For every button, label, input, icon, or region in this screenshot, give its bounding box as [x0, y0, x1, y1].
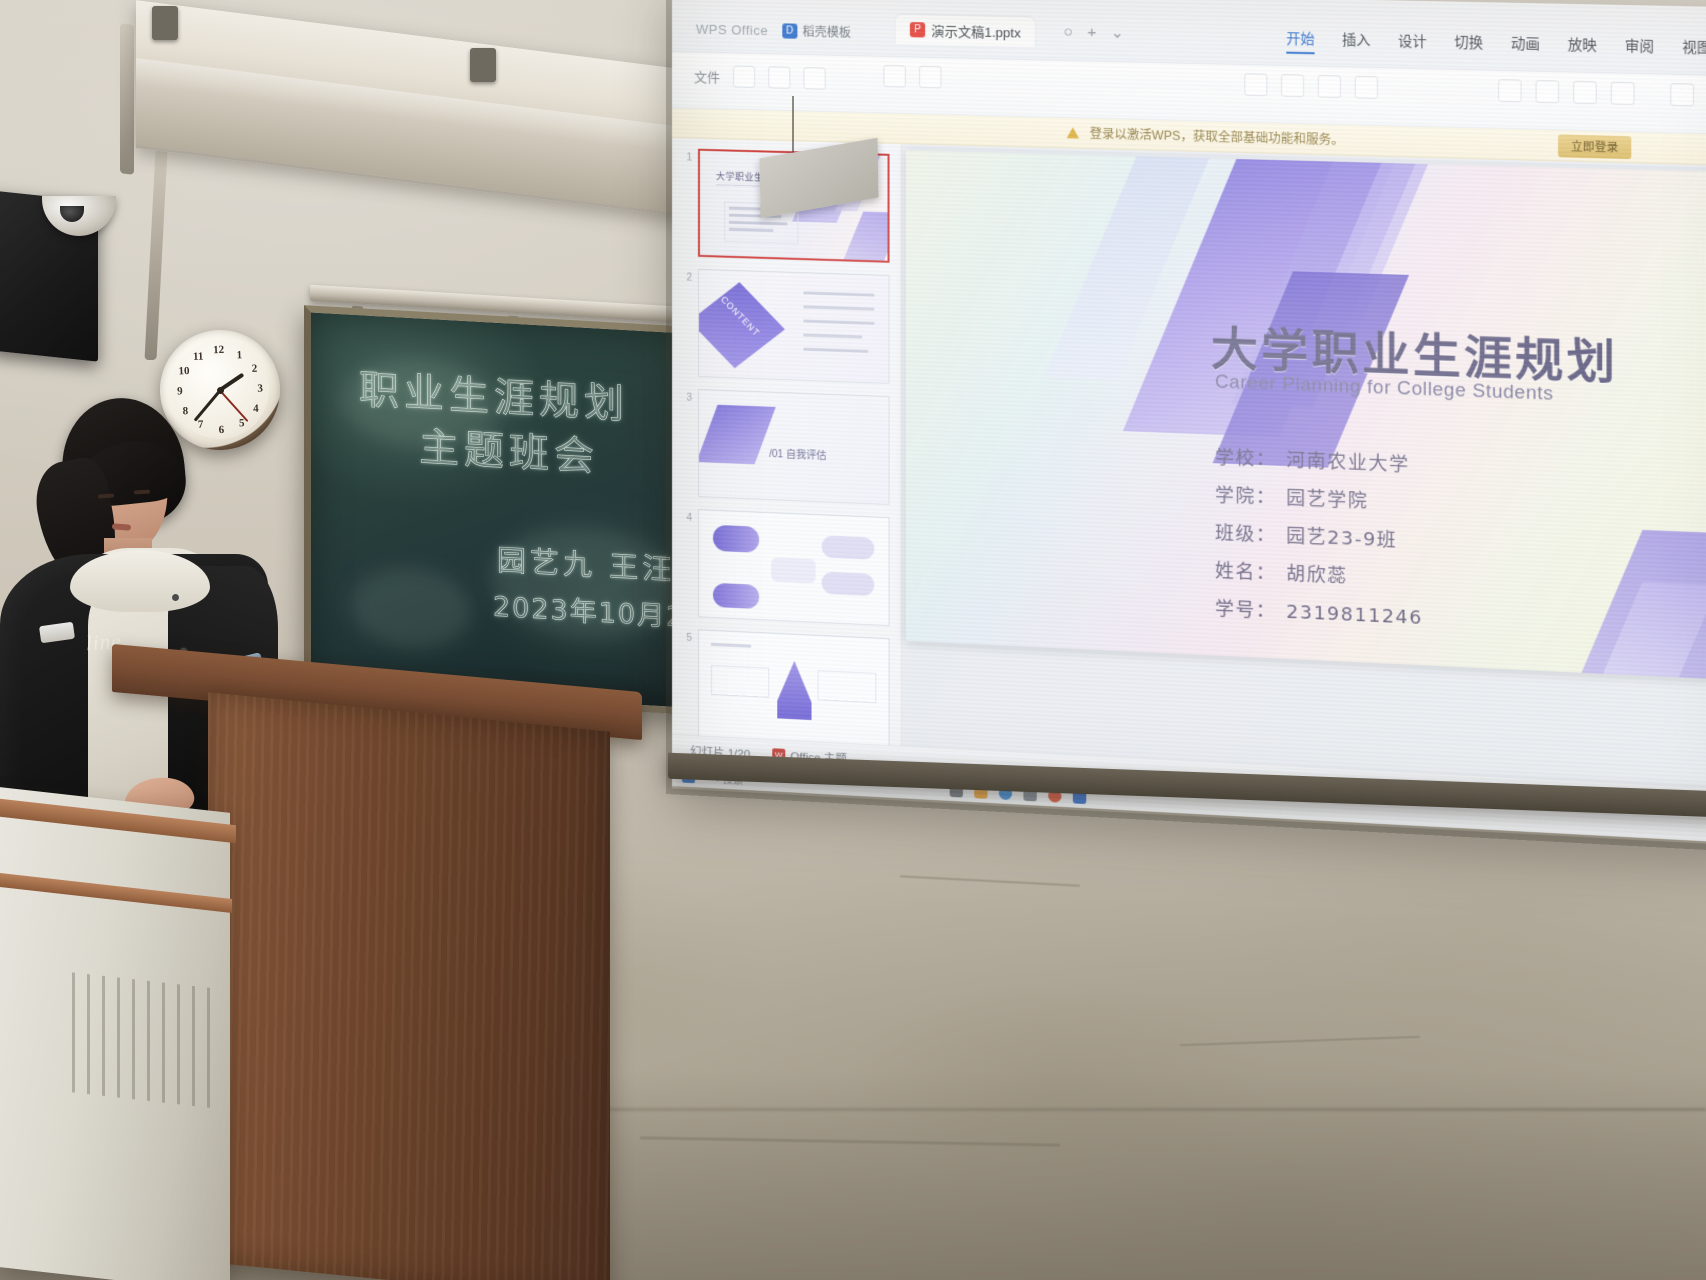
- ribbon-tab-review[interactable]: 审阅: [1625, 34, 1654, 62]
- clock-center-pin: [216, 386, 223, 393]
- thumbnail-number: 5: [680, 628, 692, 737]
- info-value-school: 河南农业大学: [1286, 450, 1409, 476]
- thumbnail-item[interactable]: 2 CONTENT: [680, 268, 893, 384]
- info-value-class: 园艺23-9班: [1286, 526, 1397, 552]
- thumbnail-item[interactable]: 4: [680, 508, 893, 626]
- bold-icon[interactable]: [1498, 79, 1522, 102]
- align-left-icon[interactable]: [1670, 83, 1694, 106]
- ribbon-tab-slideshow[interactable]: 放映: [1568, 33, 1597, 61]
- undo-redo-group: [883, 65, 941, 89]
- font-group: [1498, 79, 1634, 105]
- thumbnail-preview[interactable]: /01 自我评估: [698, 389, 890, 505]
- ribbon-menu: 开始 插入 设计 切换 动画 放映 审阅 视图 工具 会员专享 雨课堂: [1286, 27, 1706, 68]
- clock-number: 10: [178, 365, 189, 377]
- podium-front-panel: [208, 692, 610, 1280]
- ribbon-tab-insert[interactable]: 插入: [1342, 28, 1371, 55]
- wall-pipe: [120, 23, 134, 174]
- thumbnail-preview[interactable]: [698, 629, 890, 746]
- info-row-student-id: 学号：2319811246: [1215, 594, 1423, 630]
- section-icon[interactable]: [1355, 76, 1378, 99]
- tab-restore-icon[interactable]: ○: [1064, 23, 1073, 40]
- thumbnail-title: /01 自我评估: [769, 445, 826, 462]
- slide-editing-stage[interactable]: 大学职业生涯规划 Career Planning for College Stu…: [902, 144, 1706, 790]
- undo-icon[interactable]: [883, 65, 905, 88]
- italic-icon[interactable]: [1536, 80, 1560, 103]
- login-now-button[interactable]: 立即登录: [1558, 134, 1631, 159]
- slide-info-block[interactable]: 学校：河南农业大学 学院：园艺学院 班级：园艺23-9班 姓名：胡欣蕊 学号：2…: [1215, 443, 1423, 642]
- clock-number: 9: [177, 385, 183, 397]
- info-row-name: 姓名：胡欣蕊: [1215, 556, 1423, 592]
- podium-vent-slats: [60, 971, 220, 1109]
- clock-number: 1: [236, 349, 242, 361]
- current-slide[interactable]: 大学职业生涯规划 Career Planning for College Stu…: [906, 150, 1706, 681]
- thumbnail-number: 2: [680, 268, 692, 376]
- thumbnail-item[interactable]: 5: [680, 628, 893, 745]
- blackboard: 职业生涯规划 主题班会 园艺九 王汪 2023年10月28日: [304, 305, 694, 715]
- qa-file-label[interactable]: 文件: [694, 66, 720, 86]
- new-slide-icon[interactable]: [1281, 74, 1304, 97]
- file-tab-label: 演示文稿1.pptx: [931, 20, 1020, 41]
- classroom-photo-scene: 12 1 2 3 4 5 6 7 8 9 10 11 职业生涯规划 主题班会: [0, 0, 1706, 1280]
- info-value-college: 园艺学院: [1286, 488, 1368, 513]
- file-tab-presentation[interactable]: P 演示文稿1.pptx: [896, 15, 1036, 47]
- save-icon[interactable]: [733, 65, 755, 88]
- ribbon-tab-home[interactable]: 开始: [1286, 27, 1314, 54]
- paste-icon[interactable]: [1244, 73, 1267, 96]
- ribbon-tab-transition[interactable]: 切换: [1454, 31, 1483, 58]
- roller-bracket: [152, 6, 178, 40]
- layout-icon[interactable]: [1318, 75, 1341, 98]
- find-icon[interactable]: [803, 67, 825, 90]
- clock-number: 12: [213, 344, 224, 356]
- info-key-name: 姓名：: [1215, 556, 1286, 586]
- thumbnail-preview[interactable]: CONTENT: [698, 269, 890, 384]
- ribbon-tab-view[interactable]: 视图: [1682, 35, 1706, 63]
- warning-triangle-icon: [1067, 127, 1079, 139]
- clock-number: 11: [193, 350, 204, 362]
- jacket-snap-button: [172, 594, 179, 601]
- wps-brand-label: WPS Office: [696, 22, 768, 39]
- info-row-class: 班级：园艺23-9班: [1215, 518, 1423, 553]
- thumbnail-item[interactable]: 3 /01 自我评估: [680, 388, 893, 505]
- info-row-college: 学院：园艺学院: [1215, 481, 1423, 516]
- template-tab-label: 稻壳模板: [802, 23, 851, 41]
- blackboard-line-2: 主题班会: [419, 415, 599, 483]
- paragraph-group: [1670, 83, 1706, 108]
- pptx-file-icon: P: [910, 22, 925, 37]
- clipboard-group: [1244, 73, 1378, 99]
- quick-access-toolbar: 文件: [694, 65, 826, 90]
- ribbon-tab-animation[interactable]: 动画: [1511, 32, 1540, 60]
- print-icon[interactable]: [768, 66, 790, 89]
- podium-wood-grain: [208, 692, 610, 1280]
- info-key-college: 学院：: [1215, 481, 1286, 511]
- underline-icon[interactable]: [1573, 81, 1597, 104]
- info-value-name: 胡欣蕊: [1286, 563, 1348, 587]
- thumbnail-number: 3: [680, 388, 692, 497]
- presenter-mouth: [112, 523, 131, 530]
- template-icon: D: [782, 23, 797, 38]
- ribbon-tab-design[interactable]: 设计: [1398, 29, 1427, 56]
- redo-icon[interactable]: [919, 66, 941, 89]
- clock-number: 3: [257, 383, 263, 395]
- thumbnail-number: 1: [680, 148, 692, 256]
- new-tab-plus-icon[interactable]: +: [1087, 23, 1096, 40]
- activation-notice-text: 登录以激活WPS，获取全部基础功能和服务。: [1090, 125, 1344, 149]
- info-key-class: 班级：: [1215, 518, 1286, 548]
- template-tab[interactable]: D 稻壳模板: [782, 22, 851, 41]
- slide-thumbnail-pane[interactable]: 1 大学职业生涯规划 2: [672, 138, 902, 746]
- info-key-school: 学校：: [1215, 443, 1286, 472]
- info-key-student-id: 学号：: [1215, 594, 1286, 624]
- thumbnail-number: 4: [680, 508, 692, 617]
- clock-number: 2: [252, 363, 258, 375]
- projected-wps-presentation: WPS Office D 稻壳模板 P 演示文稿1.pptx ○ + ⌄ 开始 …: [672, 0, 1706, 844]
- thumbnail-preview[interactable]: [698, 509, 890, 626]
- tab-more-chevron-down-icon[interactable]: ⌄: [1111, 23, 1124, 42]
- font-color-icon[interactable]: [1611, 82, 1635, 105]
- roller-bracket: [470, 48, 496, 82]
- info-value-student-id: 2319811246: [1286, 601, 1423, 629]
